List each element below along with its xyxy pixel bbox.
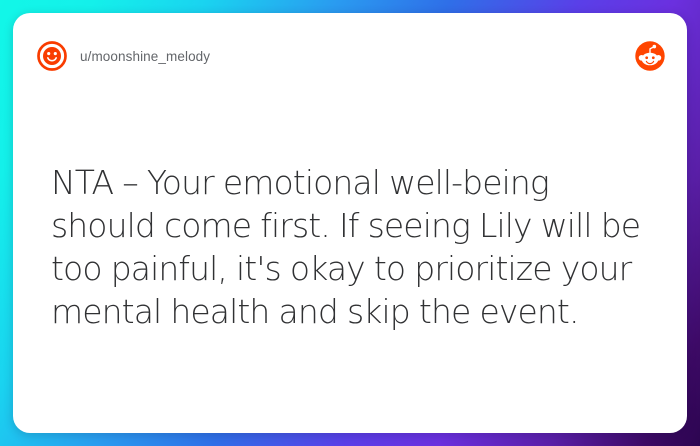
post-header: u/moonshine_melody xyxy=(13,13,687,99)
reddit-post-card: u/moonshine_melody NTA – Your emo xyxy=(13,13,687,433)
post-text: NTA – Your emotional well-being should c… xyxy=(51,161,653,333)
username-label[interactable]: u/moonshine_melody xyxy=(80,49,210,64)
reddit-snoo-icon[interactable] xyxy=(635,41,665,71)
post-body: NTA – Your emotional well-being should c… xyxy=(13,161,687,333)
smiley-face-avatar-icon[interactable] xyxy=(37,41,67,71)
post-card-stage: u/moonshine_melody NTA – Your emo xyxy=(0,0,700,446)
